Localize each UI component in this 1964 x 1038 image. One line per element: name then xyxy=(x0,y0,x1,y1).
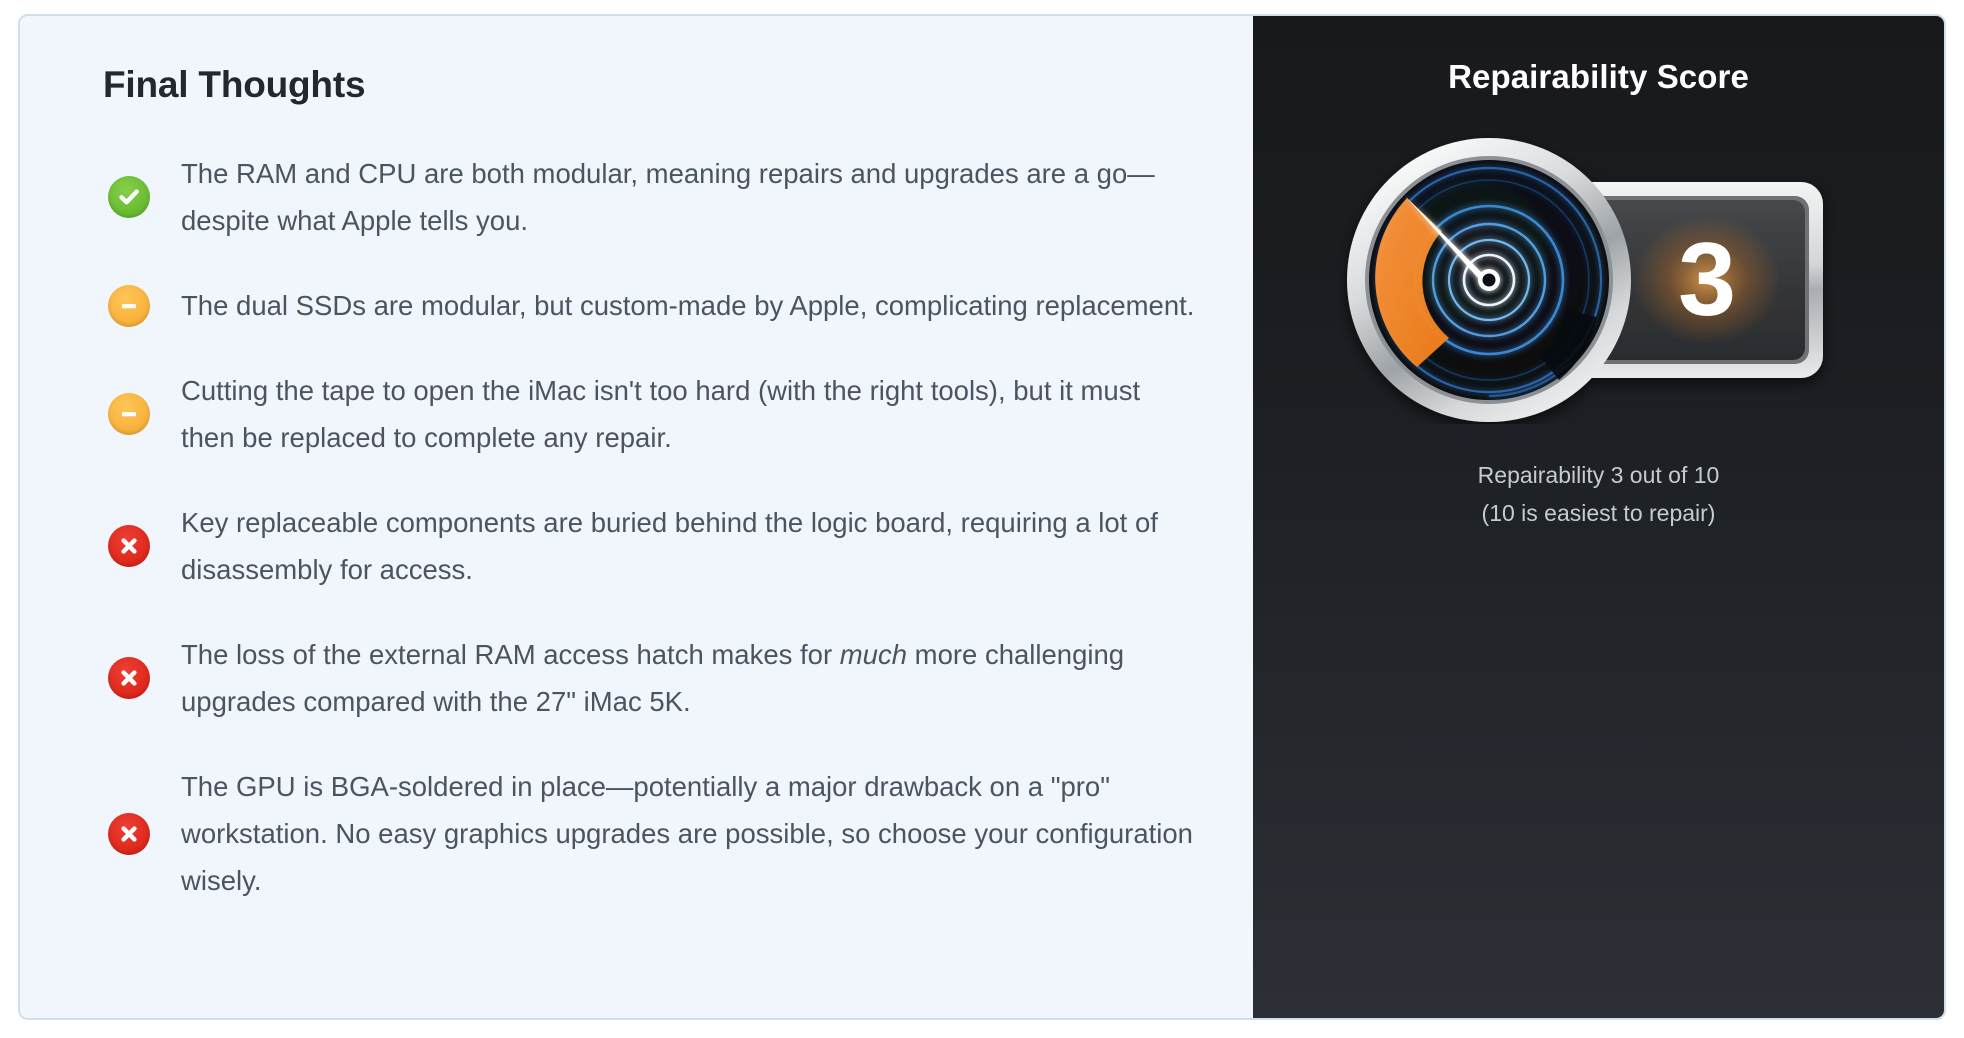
score-caption: Repairability 3 out of 10 (10 is easiest… xyxy=(1253,456,1944,532)
badge-wrapper xyxy=(108,150,181,244)
minus-circle-icon xyxy=(108,393,150,435)
list-item-text: The loss of the external RAM access hatc… xyxy=(181,631,1201,725)
score-caption-line-2: (10 is easiest to repair) xyxy=(1253,494,1944,532)
list-item-text: The RAM and CPU are both modular, meanin… xyxy=(181,150,1201,244)
score-value: 3 xyxy=(1678,222,1736,338)
gauge-graphic: 3 xyxy=(1329,134,1869,424)
badge-wrapper xyxy=(108,282,181,329)
repairability-summary-card: Final Thoughts The RAM and CPU are both … xyxy=(18,14,1946,1020)
page-title: Final Thoughts xyxy=(103,64,1253,106)
final-thoughts-list: The RAM and CPU are both modular, meanin… xyxy=(20,150,1253,904)
x-circle-icon xyxy=(108,525,150,567)
score-panel-title: Repairability Score xyxy=(1253,58,1944,96)
repairability-score-panel: Repairability Score xyxy=(1253,16,1944,1018)
list-item: The loss of the external RAM access hatc… xyxy=(20,631,1253,725)
final-thoughts-panel: Final Thoughts The RAM and CPU are both … xyxy=(20,16,1253,1018)
x-circle-icon xyxy=(108,813,150,855)
list-item: The RAM and CPU are both modular, meanin… xyxy=(20,150,1253,244)
x-circle-icon xyxy=(108,657,150,699)
list-item: Cutting the tape to open the iMac isn't … xyxy=(20,367,1253,461)
list-item-text: Key replaceable components are buried be… xyxy=(181,499,1201,593)
repairability-meter-icon: 3 xyxy=(1329,134,1869,424)
list-item: The dual SSDs are modular, but custom-ma… xyxy=(20,282,1253,329)
check-glyph xyxy=(108,176,150,218)
badge-wrapper xyxy=(108,367,181,461)
minus-circle-icon xyxy=(108,285,150,327)
check-circle-icon xyxy=(108,176,150,218)
list-item: Key replaceable components are buried be… xyxy=(20,499,1253,593)
list-item-text: The GPU is BGA-soldered in place—potenti… xyxy=(181,763,1201,904)
minus-glyph xyxy=(108,393,150,435)
list-item-text: Cutting the tape to open the iMac isn't … xyxy=(181,367,1201,461)
x-glyph xyxy=(108,525,150,567)
list-item: The GPU is BGA-soldered in place—potenti… xyxy=(20,763,1253,904)
badge-wrapper xyxy=(108,763,181,904)
score-caption-line-1: Repairability 3 out of 10 xyxy=(1253,456,1944,494)
minus-glyph xyxy=(108,285,150,327)
list-item-text: The dual SSDs are modular, but custom-ma… xyxy=(181,282,1194,329)
badge-wrapper xyxy=(108,631,181,725)
x-glyph xyxy=(108,657,150,699)
x-glyph xyxy=(108,813,150,855)
badge-wrapper xyxy=(108,499,181,593)
